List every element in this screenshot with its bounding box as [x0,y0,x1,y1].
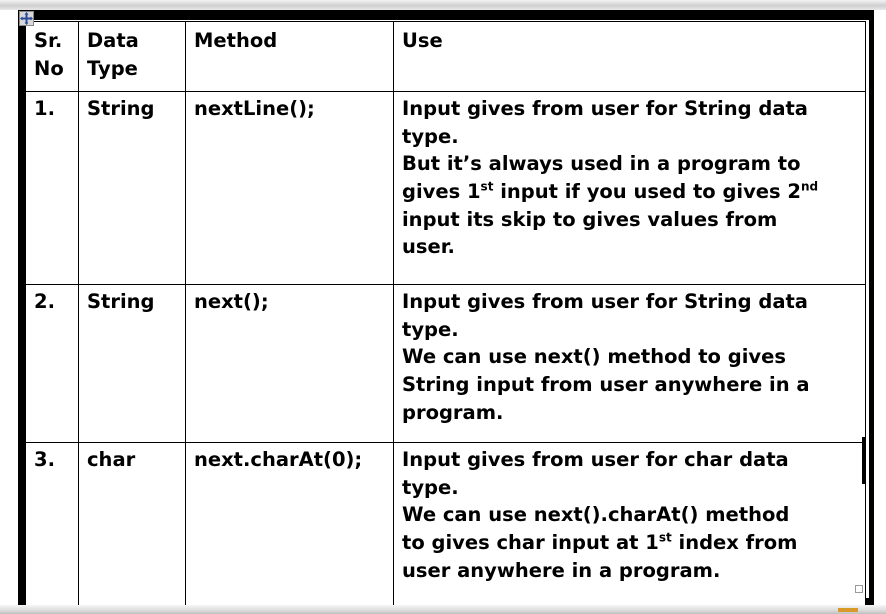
column-header-data-type-line2: Type [87,57,138,80]
use-line: input its skip to gives values from [402,206,859,234]
use-paragraph: Input gives from user for String data ty… [402,288,859,343]
ordinal-superscript: st [659,531,672,545]
window-top-strip [0,0,886,10]
cell-data-type: String [79,285,186,443]
use-line-text: to gives char input at 1 [402,531,659,554]
cell-data-type: String [79,92,186,285]
cell-method: next(); [186,285,394,443]
use-line: program. [402,399,859,427]
use-line: We can use next() method to gives [402,343,859,371]
use-line: Input gives from user for char data [402,446,859,474]
use-line: to gives char input at 1st index from [402,529,859,557]
column-header-sr-no-line1: Sr. [34,29,62,52]
use-line: We can use next().charAt() method [402,501,859,529]
column-header-method: Method [186,22,394,92]
column-header-method-line1: Method [194,29,277,52]
cell-sr-no: 3. [26,443,79,607]
resize-handle-icon[interactable] [855,585,863,593]
use-paragraph: We can use next().charAt() method to giv… [402,501,859,584]
move-cross-icon[interactable] [19,11,34,26]
table-container: Sr. No Data Type Method Use 1. [25,21,866,607]
table-row: 3. char next.charAt(0); Input gives from… [26,443,866,607]
ordinal-superscript: st [481,180,494,194]
use-paragraph: But it’s always used in a program to giv… [402,150,859,261]
table-row: 1. String nextLine(); Input gives from u… [26,92,866,285]
bottom-accent-mark [838,608,858,612]
use-line: user anywhere in a program. [402,557,859,585]
cell-method: next.charAt(0); [186,443,394,607]
cell-use: Input gives from user for String data ty… [394,92,866,285]
cell-use: Input gives from user for String data ty… [394,285,866,443]
column-header-sr-no: Sr. No [26,22,79,92]
column-header-use-line1: Use [402,29,443,52]
window-bottom-strip [0,605,886,614]
column-header-data-type-line1: Data [87,29,139,52]
use-line: Input gives from user for String data [402,95,859,123]
use-line: type. [402,316,859,344]
use-line: String input from user anywhere in a [402,371,859,399]
column-resize-indicator[interactable] [862,437,865,484]
scanner-methods-table: Sr. No Data Type Method Use 1. [25,21,866,607]
table-row: 2. String next(); Input gives from user … [26,285,866,443]
use-line-text: gives 1 [402,180,481,203]
use-paragraph: Input gives from user for char data type… [402,446,859,501]
cell-use: Input gives from user for char data type… [394,443,866,607]
cell-sr-no: 1. [26,92,79,285]
use-paragraph: We can use next() method to gives String… [402,343,859,426]
use-line: Input gives from user for String data [402,288,859,316]
use-line: user. [402,233,859,261]
use-paragraph: Input gives from user for String data ty… [402,95,859,150]
table-header-row: Sr. No Data Type Method Use [26,22,866,92]
use-line: type. [402,123,859,151]
column-header-sr-no-line2: No [34,57,64,80]
use-line: gives 1st input if you used to gives 2nd [402,178,859,206]
use-line-text: input if you used to gives 2 [493,180,801,203]
screenshot-root: Sr. No Data Type Method Use 1. [0,0,886,614]
cell-method: nextLine(); [186,92,394,285]
use-line: But it’s always used in a program to [402,150,859,178]
use-line: type. [402,474,859,502]
cell-data-type: char [79,443,186,607]
column-header-use: Use [394,22,866,92]
cell-sr-no: 2. [26,285,79,443]
use-line-text: index from [672,531,798,554]
ordinal-superscript: nd [801,180,818,194]
column-header-data-type: Data Type [79,22,186,92]
